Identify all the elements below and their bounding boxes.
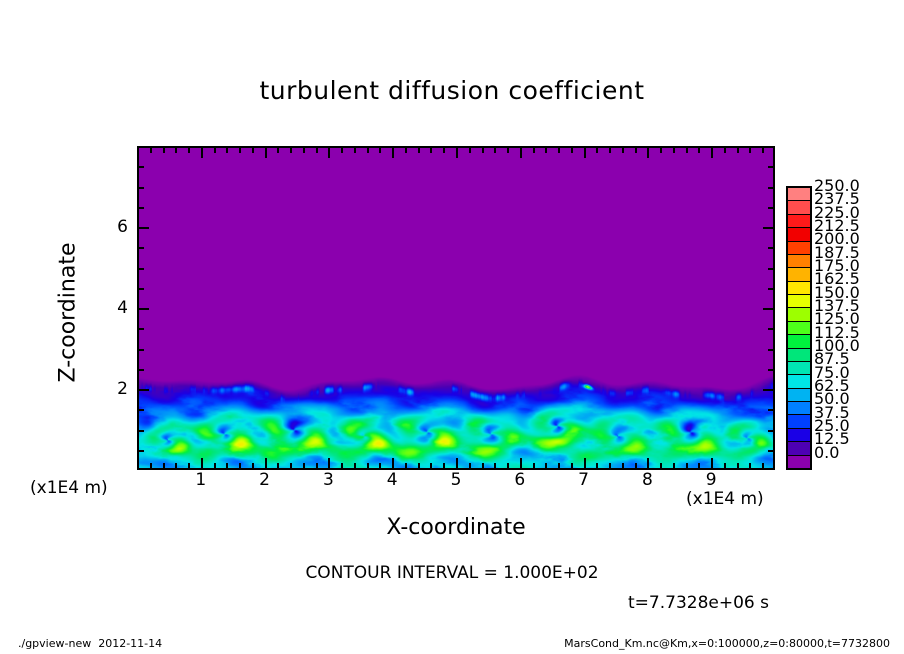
x-major-tick-top [711,146,713,158]
y-minor-tick [137,166,144,168]
y-minor-tick-right [768,450,775,452]
x-major-tick-top [584,146,586,158]
y-minor-tick [137,430,144,432]
x-tick-label: 4 [377,470,407,490]
x-minor-tick [214,463,216,470]
x-major-tick-top [456,146,458,158]
x-minor-tick-top [341,146,343,153]
y-tick-label: 6 [104,217,128,237]
x-major-tick-top [265,146,267,158]
x-minor-tick-top [482,146,484,153]
y-minor-tick [137,409,144,411]
x-minor-tick-top [367,146,369,153]
x-major-tick [584,458,586,470]
x-tick-label: 2 [250,470,280,490]
x-minor-tick-top [188,146,190,153]
x-minor-tick [316,463,318,470]
x-minor-tick [749,463,751,470]
x-minor-tick-top [443,146,445,153]
y-minor-tick-right [768,247,775,249]
x-minor-tick-top [290,146,292,153]
x-minor-tick-top [749,146,751,153]
y-minor-tick-right [768,207,775,209]
x-minor-tick [367,463,369,470]
x-minor-tick [635,463,637,470]
x-minor-tick [545,463,547,470]
colorbar-swatch [788,442,810,455]
x-minor-tick [596,463,598,470]
y-axis-title: Z-coordinate [56,213,81,413]
x-major-tick [520,458,522,470]
x-minor-tick [698,463,700,470]
x-minor-tick-top [686,146,688,153]
x-minor-tick [239,463,241,470]
x-minor-tick [533,463,535,470]
colorbar-tick-label: 0.0 [814,445,839,461]
x-minor-tick-top [252,146,254,153]
x-major-tick-top [201,146,203,158]
x-minor-tick-top [226,146,228,153]
x-minor-tick-top [316,146,318,153]
y-minor-tick [137,207,144,209]
colorbar-swatch [788,415,810,428]
y-minor-tick [137,450,144,452]
colorbar-swatch [788,362,810,375]
x-minor-tick-top [354,146,356,153]
x-minor-tick-top [379,146,381,153]
x-minor-tick [724,463,726,470]
colorbar [786,186,812,470]
colorbar-swatch [788,389,810,402]
time-annotation: t=7.7328e+06 s [628,593,769,613]
x-axis-title: X-coordinate [137,515,775,540]
colorbar-labels: 250.0237.5225.0212.5200.0187.5175.0162.5… [814,180,904,476]
x-tick-label: 1 [186,470,216,490]
y-minor-tick-right [768,430,775,432]
x-minor-tick-top [150,146,152,153]
x-major-tick [328,458,330,470]
y-major-tick-right [763,308,775,310]
x-tick-label: 9 [696,470,726,490]
x-minor-tick [341,463,343,470]
colorbar-swatch [788,268,810,281]
x-minor-tick-top [469,146,471,153]
x-minor-tick-top [596,146,598,153]
y-minor-tick [137,187,144,189]
x-minor-tick [418,463,420,470]
heatmap-canvas [139,148,773,468]
x-minor-tick-top [405,146,407,153]
x-minor-tick-top [545,146,547,153]
colorbar-swatch [788,215,810,228]
x-minor-tick [290,463,292,470]
y-minor-tick [137,349,144,351]
x-minor-tick [303,463,305,470]
colorbar-swatch [788,242,810,255]
colorbar-swatch [788,201,810,214]
colorbar-swatch [788,375,810,388]
colorbar-swatch [788,255,810,268]
x-minor-tick [469,463,471,470]
x-major-tick [201,458,203,470]
x-minor-tick-top [762,146,764,153]
y-major-tick [137,389,149,391]
x-minor-tick-top [660,146,662,153]
x-minor-tick [405,463,407,470]
x-minor-tick [762,463,764,470]
x-minor-tick-top [163,146,165,153]
y-minor-tick-right [768,166,775,168]
x-minor-tick-top [494,146,496,153]
x-minor-tick-top [277,146,279,153]
x-major-tick [456,458,458,470]
colorbar-swatch [788,188,810,201]
x-minor-tick [571,463,573,470]
y-minor-tick-right [768,369,775,371]
x-minor-tick-top [737,146,739,153]
y-tick-label: 2 [104,379,128,399]
colorbar-swatch [788,322,810,335]
x-minor-tick [430,463,432,470]
x-minor-tick-top [303,146,305,153]
x-minor-tick-top [214,146,216,153]
x-major-tick [711,458,713,470]
x-minor-tick [163,463,165,470]
colorbar-swatch [788,456,810,468]
plot-area [137,146,775,470]
x-minor-tick-top [698,146,700,153]
x-minor-tick-top [558,146,560,153]
y-major-tick-right [763,227,775,229]
x-minor-tick [673,463,675,470]
x-minor-tick [609,463,611,470]
x-minor-tick-top [609,146,611,153]
x-tick-label: 5 [441,470,471,490]
x-minor-tick-top [533,146,535,153]
x-major-tick [265,458,267,470]
x-minor-tick [686,463,688,470]
footer-source: MarsCond_Km.nc@Km,x=0:100000,z=0:80000,t… [564,637,890,650]
y-minor-tick-right [768,268,775,270]
x-minor-tick [482,463,484,470]
y-minor-tick-right [768,187,775,189]
y-minor-tick [137,247,144,249]
x-minor-tick-top [239,146,241,153]
colorbar-swatch [788,308,810,321]
x-minor-tick [277,463,279,470]
x-minor-tick-top [418,146,420,153]
page-title: turbulent diffusion coefficient [0,76,904,105]
y-axis-unit-label: (x1E4 m) [30,478,108,498]
x-minor-tick-top [175,146,177,153]
colorbar-swatch [788,429,810,442]
x-minor-tick [379,463,381,470]
x-tick-label: 3 [313,470,343,490]
y-minor-tick-right [768,349,775,351]
x-minor-tick [622,463,624,470]
x-minor-tick [737,463,739,470]
y-major-tick [137,227,149,229]
x-minor-tick [188,463,190,470]
x-major-tick [647,458,649,470]
x-major-tick-top [328,146,330,158]
x-tick-label: 8 [632,470,662,490]
y-minor-tick [137,369,144,371]
x-minor-tick [354,463,356,470]
x-tick-label: 6 [505,470,535,490]
colorbar-swatch [788,282,810,295]
x-minor-tick [443,463,445,470]
x-minor-tick [226,463,228,470]
x-minor-tick [558,463,560,470]
x-minor-tick-top [571,146,573,153]
x-axis-unit-label: (x1E4 m) [686,489,764,509]
x-major-tick-top [647,146,649,158]
colorbar-swatch [788,402,810,415]
x-minor-tick [660,463,662,470]
y-major-tick [137,308,149,310]
footer-command: ./gpview-new 2012-11-14 [18,637,162,650]
y-minor-tick [137,288,144,290]
x-minor-tick [507,463,509,470]
colorbar-swatch [788,295,810,308]
colorbar-swatch [788,228,810,241]
y-minor-tick-right [768,288,775,290]
x-minor-tick [175,463,177,470]
y-minor-tick [137,268,144,270]
y-minor-tick-right [768,328,775,330]
x-minor-tick-top [622,146,624,153]
contour-interval-annotation: CONTOUR INTERVAL = 1.000E+02 [0,563,904,583]
x-minor-tick [494,463,496,470]
colorbar-swatch [788,349,810,362]
x-minor-tick-top [724,146,726,153]
x-minor-tick-top [673,146,675,153]
x-minor-tick [252,463,254,470]
y-minor-tick [137,328,144,330]
x-major-tick-top [392,146,394,158]
x-major-tick [392,458,394,470]
x-minor-tick [150,463,152,470]
y-tick-label: 4 [104,298,128,318]
x-minor-tick-top [635,146,637,153]
x-minor-tick-top [507,146,509,153]
x-major-tick-top [520,146,522,158]
x-tick-label: 7 [569,470,599,490]
y-major-tick-right [763,389,775,391]
y-minor-tick-right [768,409,775,411]
x-minor-tick-top [430,146,432,153]
colorbar-swatch [788,335,810,348]
